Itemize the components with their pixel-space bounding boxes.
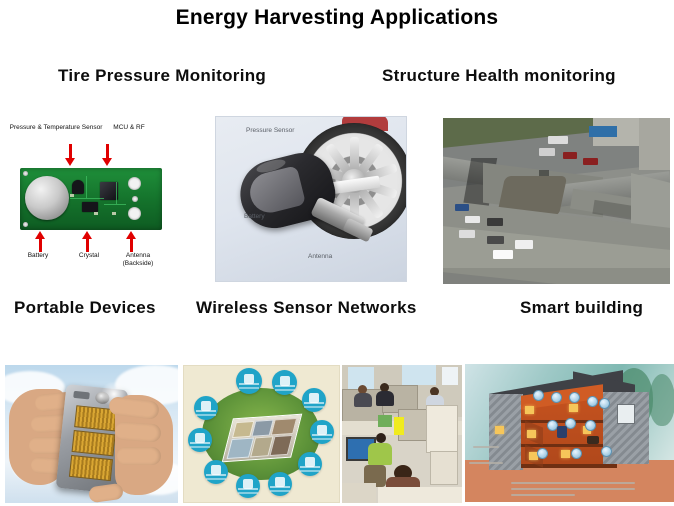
heading-structure-health-monitoring: Structure Health monitoring xyxy=(382,66,616,86)
tpms-label-battery: Battery xyxy=(244,213,265,220)
sensor-node-9 xyxy=(537,448,548,459)
smarthome-bubble-1 xyxy=(236,368,262,394)
smarthome-bubble-3 xyxy=(302,388,326,412)
sensor-node-1 xyxy=(533,390,544,401)
slide-root: Energy Harvesting Applications Tire Pres… xyxy=(0,0,674,506)
smarthome-bubble-2 xyxy=(272,370,297,395)
sensor-node-3 xyxy=(569,392,580,403)
sensor-node-10 xyxy=(571,448,582,459)
smarthome-bubble-6 xyxy=(268,472,292,496)
pcb-label-antenna: Antenna (Backside) xyxy=(110,252,166,268)
pcb-label-sensor: Pressure & Temperature Sensor xyxy=(8,124,104,132)
smarthome-bubble-4 xyxy=(310,420,334,444)
tpms-label-antenna: Antenna xyxy=(308,253,332,260)
heading-portable-devices: Portable Devices xyxy=(14,298,156,318)
pcb-label-crystal: Crystal xyxy=(68,252,110,260)
page-title: Energy Harvesting Applications xyxy=(0,6,674,30)
building-furniture xyxy=(587,436,599,444)
smarthome-bubble-5 xyxy=(298,452,322,476)
tpms-label-pressure-sensor: Pressure Sensor xyxy=(246,127,294,134)
panel-smart-home-infographic xyxy=(183,365,340,503)
sensor-node-2 xyxy=(551,392,562,403)
heading-tire-pressure-monitoring: Tire Pressure Monitoring xyxy=(58,66,266,86)
sensor-node-11 xyxy=(601,446,612,457)
smarthome-bubble-8 xyxy=(204,460,228,484)
panel-collapsed-bridge-aerial xyxy=(443,118,670,284)
panel-building-cutaway xyxy=(465,364,674,502)
pcb-label-battery: Battery xyxy=(14,252,62,260)
heading-wireless-sensor-networks: Wireless Sensor Networks xyxy=(196,298,417,318)
smarthome-house-cutaway xyxy=(222,414,303,463)
sensor-node-4 xyxy=(587,396,598,407)
smarthome-bubble-9 xyxy=(188,428,212,452)
pcb-coin-battery xyxy=(25,176,69,220)
pcb-sensor-chip xyxy=(72,180,84,194)
pcb-label-mcu: MCU & RF xyxy=(104,124,154,132)
sensor-node-8 xyxy=(585,420,596,431)
smarthome-bubble-10 xyxy=(194,396,218,420)
pcb-board xyxy=(20,168,162,230)
panel-solar-powered-phone xyxy=(5,365,178,503)
smarthome-bubble-7 xyxy=(236,474,260,498)
panel-tpms-sensor-wheel: Pressure Sensor Battery Antenna xyxy=(215,116,407,282)
heading-smart-building: Smart building xyxy=(520,298,643,318)
panel-office-cubicles xyxy=(342,365,462,503)
panel-tpms-pcb-module: Pressure & Temperature Sensor MCU & RF B… xyxy=(6,120,178,280)
building-chair xyxy=(557,426,567,438)
sensor-node-5 xyxy=(599,398,610,409)
pcb-crystal xyxy=(82,202,98,212)
